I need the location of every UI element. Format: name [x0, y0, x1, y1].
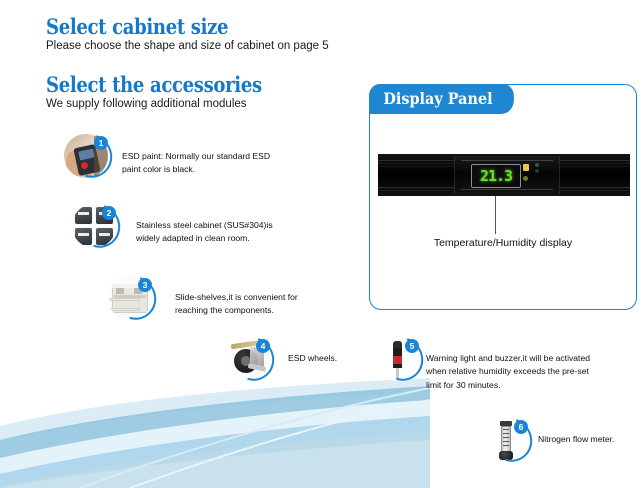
- display-panel-body: 21.3 Temperature/Humidity display: [370, 85, 636, 309]
- accessory-thumb-3: 3: [108, 276, 154, 322]
- page-title-cabinet-size: Select cabinet size: [46, 14, 228, 39]
- display-panel-card: Display Panel 21.3: [369, 84, 637, 310]
- accessory-thumb-1: 1: [64, 134, 110, 180]
- callout-leader-line: [495, 196, 496, 234]
- indicator-led-green: [523, 176, 528, 181]
- accessory-thumb-6: 6: [484, 418, 530, 464]
- controller-module: 21.3: [454, 156, 560, 194]
- accessory-text-2: Stainless steel cabinet (SUS#304)is wide…: [136, 219, 356, 246]
- accessory-number-badge-6: 6: [514, 420, 528, 434]
- accessory-thumb-2: 2: [72, 204, 118, 250]
- brochure-page: Select cabinet size Please choose the sh…: [0, 0, 643, 488]
- accessory-number-badge-4: 4: [256, 339, 270, 353]
- control-panel-hardware-photo: 21.3: [378, 154, 630, 196]
- indicator-led-dim-1: [535, 163, 539, 167]
- subtitle-accessories: We supply following additional modules: [46, 98, 247, 110]
- accessory-number-badge-3: 3: [138, 278, 152, 292]
- indicator-led-dim-2: [535, 169, 539, 173]
- accessory-number-badge-1: 1: [94, 136, 108, 150]
- indicator-led-amber: [523, 164, 529, 171]
- subtitle-cabinet-size: Please choose the shape and size of cabi…: [46, 40, 329, 52]
- accessory-text-5: Warning light and buzzer,it will be acti…: [426, 352, 641, 392]
- accessory-text-1: ESD paint: Normally our standard ESD pai…: [122, 150, 322, 177]
- accessory-number-badge-5: 5: [405, 339, 419, 353]
- accessory-thumb-5: 5: [375, 337, 421, 383]
- display-panel-caption: Temperature/Humidity display: [370, 237, 636, 249]
- page-title-accessories: Select the accessories: [46, 72, 262, 97]
- accessory-text-3: Slide-shelves,it is convenient for reach…: [175, 291, 385, 318]
- accessory-number-badge-2: 2: [102, 206, 116, 220]
- led-value: 21.3: [480, 169, 512, 184]
- accessory-thumb-4: 4: [226, 337, 272, 383]
- led-readout: 21.3: [471, 164, 521, 188]
- decorative-waves: [0, 378, 430, 488]
- accessory-text-6: Nitrogen flow meter.: [538, 433, 643, 446]
